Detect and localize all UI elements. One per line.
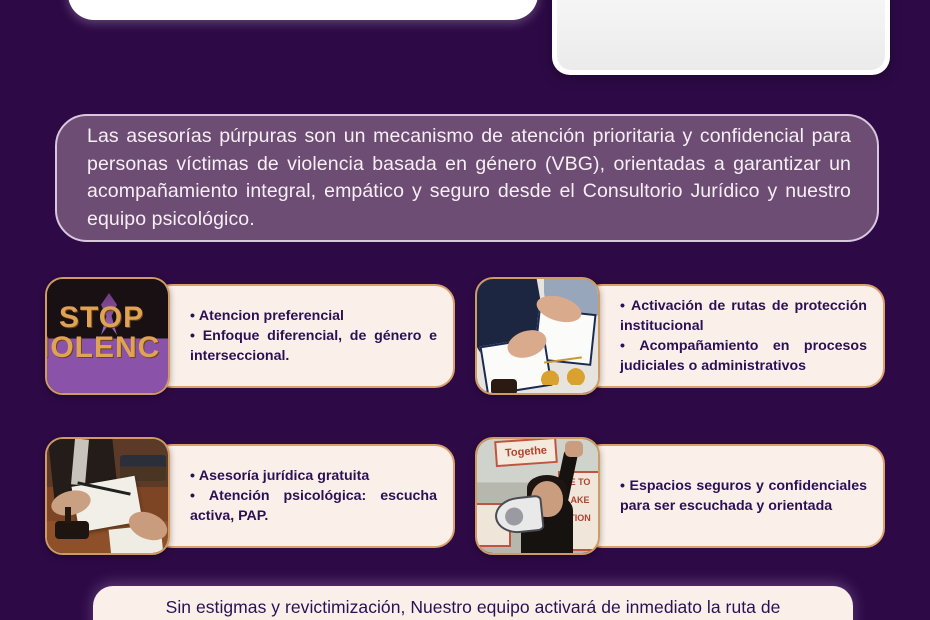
- protest-artwork: Togethe E TO AKE TION: [477, 439, 598, 553]
- document-signing-meeting-photo: [475, 277, 600, 395]
- bullet-item: Atencion preferencial: [190, 306, 437, 326]
- bullet-item: Atención psicológica: escucha activa, PA…: [190, 486, 437, 526]
- stop-word-text: STOP: [59, 301, 144, 335]
- stop-violence-banner-image: STOP IOLENC: [45, 277, 170, 395]
- bottom-message-text: Sin estigmas y revictimización, Nuestro …: [166, 595, 781, 620]
- feature-card-1-bullets: Atencion preferencial Enfoque diferencia…: [190, 306, 437, 366]
- striped-fabric-photo-frame: [552, 0, 890, 75]
- feature-card-2-bullets: Activación de rutas de protección instit…: [620, 296, 867, 376]
- feature-card-4-panel: Espacios seguros y confidenciales para s…: [582, 444, 885, 548]
- intro-description-box: Las asesorías púrpuras son un mecanismo …: [55, 114, 879, 242]
- lawyer-desk-artwork: [47, 439, 168, 553]
- bottom-message-bar: Sin estigmas y revictimización, Nuestro …: [93, 586, 853, 620]
- protest-sign-top-text: Togethe: [496, 439, 555, 465]
- feature-card-2-panel: Activación de rutas de protección instit…: [582, 284, 885, 388]
- raised-fist-icon: [565, 441, 583, 457]
- lawyer-desk-gavel-photo: [45, 437, 170, 555]
- feature-card-2: Activación de rutas de protección instit…: [475, 277, 885, 397]
- stop-violence-artwork: STOP IOLENC: [47, 279, 168, 393]
- feature-card-4: Togethe E TO AKE TION: [475, 437, 885, 557]
- striped-fabric-photo: [557, 0, 885, 70]
- bullet-item: Acompañamiento en procesos judiciales o …: [620, 336, 867, 376]
- feature-card-3-bullets: Asesoría jurídica gratuita Atención psic…: [190, 466, 437, 526]
- feature-cards-grid: STOP IOLENC Atencion preferencial Enfoqu…: [45, 277, 885, 557]
- protest-megaphone-photo: Togethe E TO AKE TION: [475, 437, 600, 555]
- bullet-item: Activación de rutas de protección instit…: [620, 296, 867, 336]
- bullet-item: Asesoría jurídica gratuita: [190, 466, 437, 486]
- violence-word-text: IOLENC: [45, 331, 160, 365]
- intro-description-text: Las asesorías púrpuras son un mecanismo …: [87, 123, 851, 233]
- scales-of-justice-icon: [540, 357, 586, 385]
- feature-card-3: Asesoría jurídica gratuita Atención psic…: [45, 437, 455, 557]
- protest-sign-top: Togethe: [494, 439, 558, 467]
- document-signing-artwork: [477, 279, 598, 393]
- gavel-icon: [55, 521, 89, 539]
- feature-card-3-panel: Asesoría jurídica gratuita Atención psic…: [152, 444, 455, 548]
- top-white-card: [68, 0, 538, 20]
- gavel-base: [491, 379, 517, 395]
- feature-card-4-bullets: Espacios seguros y confidenciales para s…: [620, 476, 867, 516]
- bullet-item: Espacios seguros y confidenciales para s…: [620, 476, 867, 516]
- bullet-item: Enfoque diferencial, de género e interse…: [190, 326, 437, 366]
- feature-card-1-panel: Atencion preferencial Enfoque diferencia…: [152, 284, 455, 388]
- poster-canvas: Las asesorías púrpuras son un mecanismo …: [0, 0, 930, 620]
- feature-card-1: STOP IOLENC Atencion preferencial Enfoqu…: [45, 277, 455, 397]
